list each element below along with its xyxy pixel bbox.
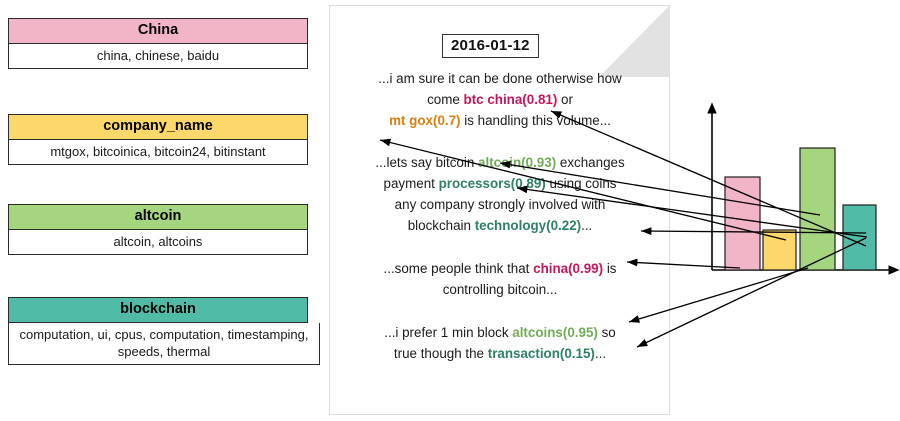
document-paragraph-4: ...i prefer 1 min block altcoins(0.95) s… [340,322,660,364]
highlight-term-china[interactable]: btc china(0.81) [464,92,558,107]
text-plain: ... [581,218,592,233]
highlight-term-technology[interactable]: technology(0.22) [475,218,581,233]
text-plain: blockchain [408,218,475,233]
text-plain: true though the [394,346,488,361]
topic-card-terms: computation, ui, cpus, computation, time… [8,323,320,365]
text-plain: ... [595,346,606,361]
topic-legend-panel: China china, chinese, baidu company_name… [0,0,320,421]
paragraph-line: ...some people think that china(0.99) is [340,258,660,279]
topic-card-altcoin[interactable]: altcoin altcoin, altcoins [8,204,308,255]
bar-blockchain[interactable] [843,205,876,270]
paragraph-line: ...i am sure it can be done otherwise ho… [340,68,660,89]
highlight-term-company-name[interactable]: mt gox(0.7) [389,113,460,128]
topic-card-title: blockchain [8,297,308,323]
topic-card-blockchain[interactable]: blockchain computation, ui, cpus, comput… [8,297,308,365]
bar-company-name[interactable] [763,230,796,270]
highlight-term-transaction[interactable]: transaction(0.15) [488,346,595,361]
text-plain: ...i prefer 1 min block [384,325,512,340]
highlight-term-processors[interactable]: processors(0.89) [439,176,546,191]
topic-card-company-name[interactable]: company_name mtgox, bitcoinica, bitcoin2… [8,114,308,165]
topic-card-title: China [8,18,308,44]
paragraph-line: ...lets say bitcoin altcoin(0.93) exchan… [340,152,660,173]
text-plain: ...i am sure it can be done otherwise ho… [378,71,621,86]
topic-card-terms: china, chinese, baidu [8,44,308,69]
text-plain: any company strongly involved with [395,197,606,212]
text-plain: controlling bitcoin... [443,282,558,297]
text-plain: ...some people think that [384,261,534,276]
paragraph-line: blockchain technology(0.22)... [340,215,660,236]
paragraph-line: controlling bitcoin... [340,279,660,300]
text-plain: exchanges [556,155,625,170]
highlight-term-china[interactable]: china(0.99) [533,261,603,276]
topic-card-terms: altcoin, altcoins [8,230,308,255]
text-plain: come [427,92,463,107]
bar-china[interactable] [725,177,760,270]
text-plain: using coins [546,176,617,191]
topic-card-china[interactable]: China china, chinese, baidu [8,18,308,69]
highlight-term-altcoins[interactable]: altcoins(0.95) [512,325,598,340]
text-plain: is handling this volume... [461,113,611,128]
document-date-badge: 2016-01-12 [442,34,539,58]
topic-card-terms: mtgox, bitcoinica, bitcoin24, bitinstant [8,140,308,165]
topic-card-title: altcoin [8,204,308,230]
text-plain: or [557,92,573,107]
paragraph-line: ...i prefer 1 min block altcoins(0.95) s… [340,322,660,343]
paragraph-line: mt gox(0.7) is handling this volume... [340,110,660,131]
text-plain: ...lets say bitcoin [375,155,478,170]
text-plain: payment [384,176,439,191]
paragraph-line: come btc china(0.81) or [340,89,660,110]
paragraph-line: any company strongly involved with [340,194,660,215]
text-plain: is [603,261,616,276]
topic-card-title: company_name [8,114,308,140]
paragraph-line: true though the transaction(0.15)... [340,343,660,364]
bar-altcoin[interactable] [800,148,835,270]
document-paragraph-1: ...i am sure it can be done otherwise ho… [340,68,660,131]
bar-chart-svg [690,90,900,305]
document-paragraph-3: ...some people think that china(0.99) is… [340,258,660,300]
highlight-term-altcoin[interactable]: altcoin(0.93) [478,155,556,170]
paragraph-line: payment processors(0.89) using coins [340,173,660,194]
topic-distribution-bar-chart [690,90,900,300]
text-plain: so [598,325,616,340]
document-paragraph-2: ...lets say bitcoin altcoin(0.93) exchan… [340,152,660,236]
